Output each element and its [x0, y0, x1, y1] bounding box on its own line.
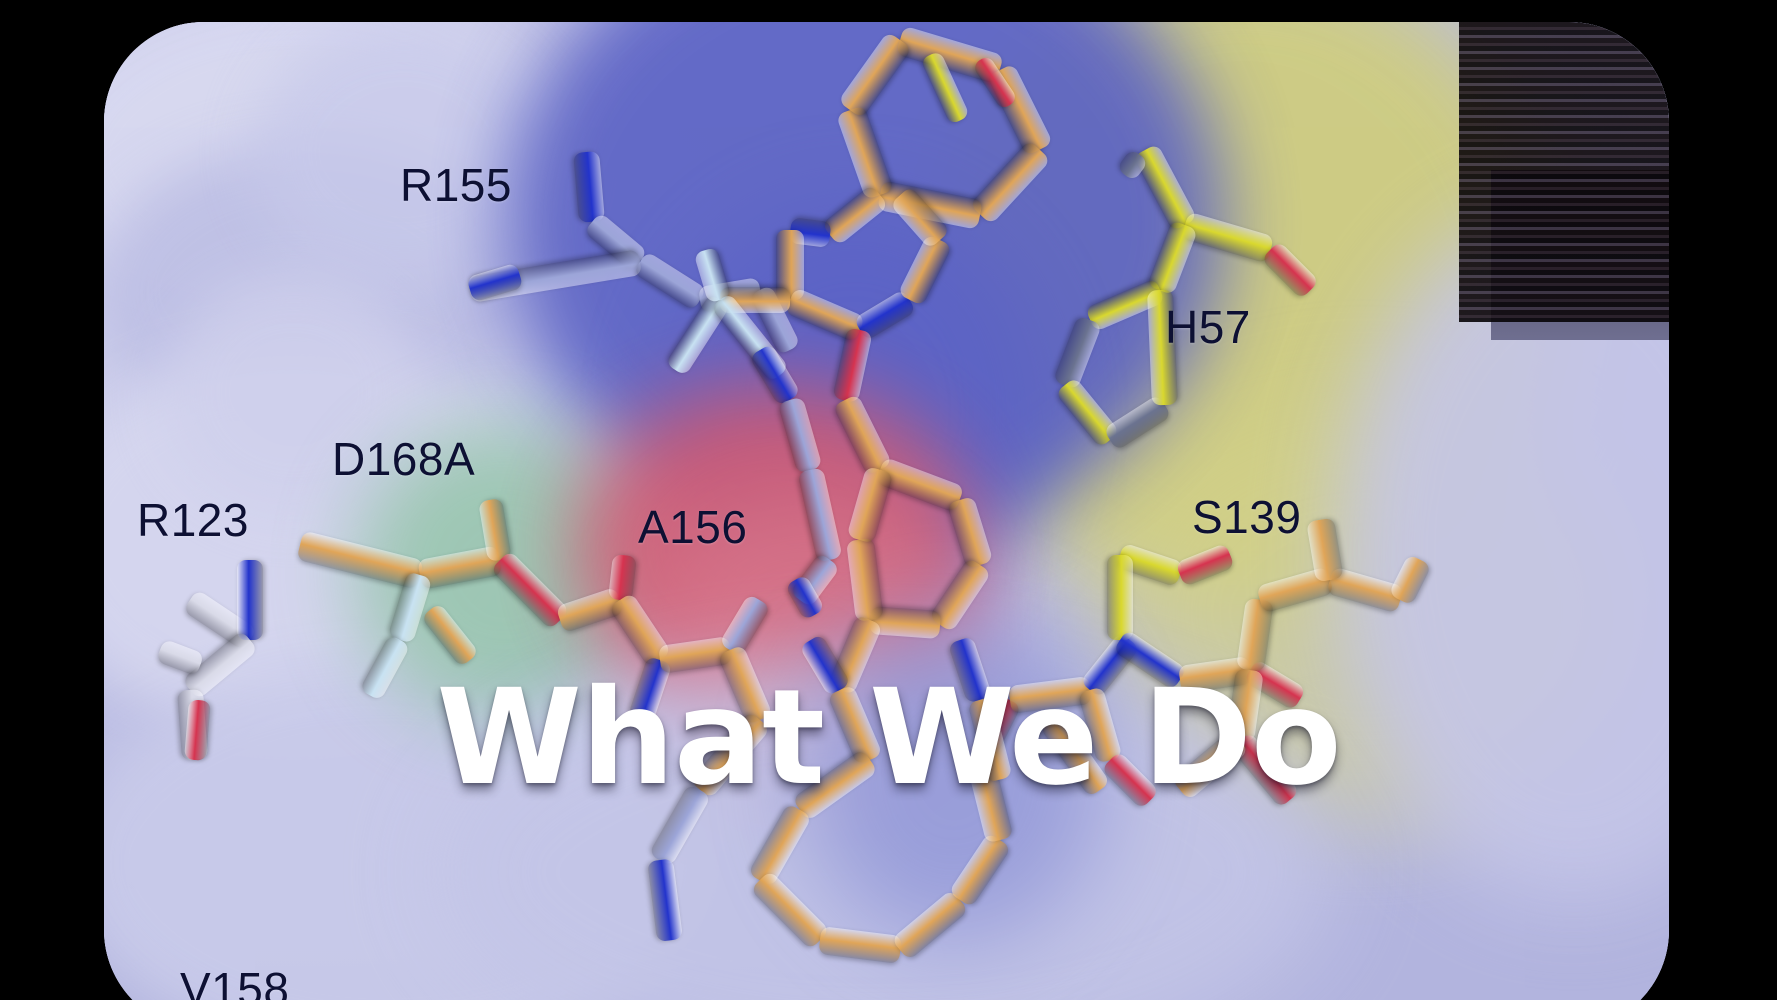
bond-carbon-white — [156, 639, 204, 676]
ligand-stick-model — [104, 22, 1669, 1000]
bond-nitrogen — [647, 858, 683, 941]
bond-sulfur-grey — [1053, 315, 1102, 389]
residue-label-v158: V158 — [180, 962, 289, 1000]
bond-carbon-ligand — [748, 803, 812, 887]
bond-nitrogen — [573, 151, 605, 223]
page-title: What We Do — [0, 672, 1777, 804]
bond-carbon-slate — [778, 396, 823, 473]
bond-nitrogen — [237, 560, 263, 640]
bond-carbon-ligand — [891, 889, 969, 961]
bond-carbon-ligand — [421, 603, 480, 668]
residue-label-d168a: D168A — [332, 432, 475, 486]
render-artifact — [1491, 170, 1669, 340]
bond-carbon-ligand — [847, 466, 894, 544]
bond-oxygen — [490, 550, 570, 630]
bond-oxygen — [608, 554, 637, 602]
bond-carbon-ligand — [836, 105, 894, 200]
bond-oxygen — [1261, 241, 1319, 299]
bond-oxygen — [1175, 543, 1235, 587]
bond-carbon-ligand — [838, 31, 912, 118]
bond-carbon-ligand — [818, 926, 901, 964]
figure-card: R155H57D168AR123S139A156V158 — [104, 22, 1669, 1000]
bond-oxygen — [832, 327, 872, 402]
bond-carbon-ligand — [969, 140, 1051, 225]
bond-carbon-ligand — [750, 870, 830, 950]
screenshot-root: R155H57D168AR123S139A156V158 What We Do — [0, 0, 1777, 1000]
bond-nitrogen — [749, 343, 801, 406]
residue-label-r155: R155 — [400, 158, 512, 212]
bond-carbon-residue-yellow — [1107, 555, 1133, 640]
residue-label-h57: H57 — [1165, 300, 1251, 354]
bond-carbon-ligand — [947, 496, 994, 569]
bond-carbon-ligand — [821, 184, 888, 246]
bond-carbon-slate — [719, 593, 771, 656]
bond-carbon-slate — [797, 467, 842, 563]
bond-carbon-ligand — [948, 832, 1011, 908]
residue-label-a156: A156 — [638, 500, 747, 554]
residue-label-s139: S139 — [1192, 490, 1301, 544]
bond-carbon-ligand — [846, 538, 884, 621]
residue-label-r123: R123 — [137, 493, 249, 547]
